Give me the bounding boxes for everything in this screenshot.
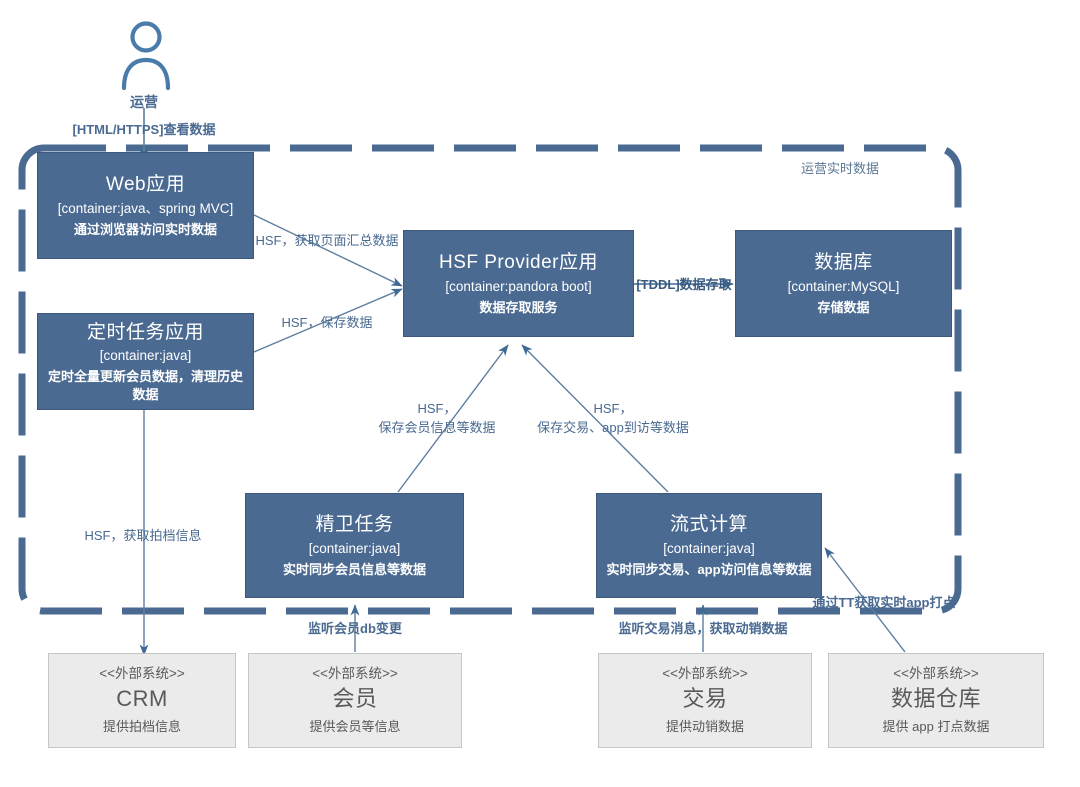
- node-stereotype: <<外部系统>>: [893, 665, 979, 683]
- node-desc: 实时同步交易、app访问信息等数据: [600, 561, 817, 579]
- edge-label-hsf-to-db: [TDDL]数据存取: [636, 276, 731, 294]
- node-title: 会员: [332, 684, 377, 714]
- edge-label-jingwei-to-hsf-2: 保存会员信息等数据: [378, 419, 495, 437]
- node-title: Web应用: [106, 172, 185, 198]
- edge-label-stream-to-hsf-2: 保存交易、app到访等数据: [537, 419, 689, 437]
- node-jingwei-task[interactable]: 精卫任务 [container:java] 实时同步会员信息等数据: [245, 493, 464, 598]
- node-container: [container:java]: [663, 540, 755, 558]
- edge-label-stream-to-hsf-1: HSF，: [593, 400, 632, 418]
- node-desc: 存储数据: [811, 299, 875, 317]
- node-stream-computing[interactable]: 流式计算 [container:java] 实时同步交易、app访问信息等数据: [596, 493, 822, 598]
- node-title: 数据库: [814, 250, 873, 276]
- edge-label-member-to-jingwei: 监听会员db变更: [308, 620, 402, 638]
- node-member[interactable]: <<外部系统>> 会员 提供会员等信息: [248, 653, 462, 748]
- node-title: 精卫任务: [315, 512, 393, 538]
- node-title: 交易: [682, 684, 727, 714]
- node-desc: 定时全量更新会员数据，清理历史数据: [38, 368, 253, 403]
- node-title: CRM: [116, 684, 168, 714]
- boundary-label: 运营实时数据: [801, 160, 879, 178]
- edge-label-task-to-crm: HSF，获取拍档信息: [84, 527, 201, 545]
- node-desc: 通过浏览器访问实时数据: [68, 221, 223, 239]
- actor-person-glyph: [118, 20, 174, 92]
- node-container: [container:java]: [100, 347, 192, 365]
- node-title: HSF Provider应用: [439, 250, 598, 276]
- actor-icon: [118, 20, 174, 97]
- node-container: [container:java、spring MVC]: [58, 200, 234, 218]
- node-desc: 提供动销数据: [660, 718, 750, 736]
- node-database[interactable]: 数据库 [container:MySQL] 存储数据: [735, 230, 952, 337]
- node-container: [container:pandora boot]: [445, 278, 591, 296]
- node-trade[interactable]: <<外部系统>> 交易 提供动销数据: [598, 653, 812, 748]
- edge-label-web-to-hsf: HSF，获取页面汇总数据: [255, 232, 398, 250]
- edge-web-to-hsf: [254, 215, 402, 286]
- architecture-diagram: 运营 运营实时数据 Web应用 [container:java、spring M…: [0, 0, 1080, 787]
- node-scheduled-task-app[interactable]: 定时任务应用 [container:java] 定时全量更新会员数据，清理历史数…: [37, 313, 254, 410]
- node-container: [container:java]: [309, 540, 401, 558]
- edge-label-task-to-hsf: HSF，保存数据: [281, 314, 372, 332]
- node-title: 定时任务应用: [87, 320, 204, 346]
- node-container: [container:MySQL]: [788, 278, 900, 296]
- node-data-warehouse[interactable]: <<外部系统>> 数据仓库 提供 app 打点数据: [828, 653, 1044, 748]
- node-stereotype: <<外部系统>>: [312, 665, 398, 683]
- node-desc: 提供会员等信息: [303, 718, 406, 736]
- edge-label-actor-to-web: [HTML/HTTPS]查看数据: [73, 121, 216, 139]
- node-web-app[interactable]: Web应用 [container:java、spring MVC] 通过浏览器访…: [37, 152, 254, 259]
- node-title: 数据仓库: [891, 684, 981, 714]
- node-stereotype: <<外部系统>>: [662, 665, 748, 683]
- actor-label: 运营: [104, 92, 184, 112]
- node-hsf-provider-app[interactable]: HSF Provider应用 [container:pandora boot] …: [403, 230, 634, 337]
- node-title: 流式计算: [670, 512, 748, 538]
- edge-label-jingwei-to-hsf-1: HSF，: [417, 400, 456, 418]
- node-desc: 提供 app 打点数据: [877, 718, 996, 736]
- edge-label-dw-to-stream: 通过TT获取实时app打点: [813, 594, 956, 612]
- node-desc: 提供拍档信息: [97, 718, 187, 736]
- node-desc: 数据存取服务: [473, 299, 563, 317]
- node-stereotype: <<外部系统>>: [99, 665, 185, 683]
- node-desc: 实时同步会员信息等数据: [277, 561, 432, 579]
- node-crm[interactable]: <<外部系统>> CRM 提供拍档信息: [48, 653, 236, 748]
- edge-label-trade-to-stream: 监听交易消息，获取动销数据: [618, 620, 787, 638]
